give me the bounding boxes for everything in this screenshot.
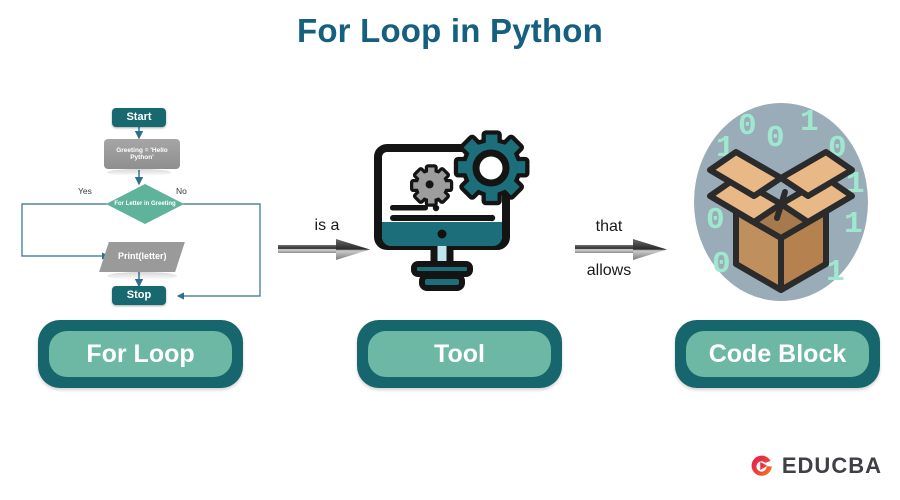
pill-code-block-label: Code Block (709, 340, 847, 369)
flow-node-stop-label: Stop (127, 289, 151, 301)
connector-that-allows (575, 238, 670, 264)
pill-for-loop-inner: For Loop (49, 331, 232, 377)
flow-node-print-shadow (107, 272, 177, 280)
monitor-gears-illustration (368, 118, 548, 308)
pill-tool-label: Tool (434, 340, 485, 369)
monitor-gears-icon (368, 118, 548, 308)
connector-allows-label: allows (574, 262, 644, 280)
connector-that-allows-arrow (575, 238, 670, 264)
open-box-code-icon: 1 0 0 1 0 1 1 0 0 1 (678, 100, 883, 308)
flow-node-stop[interactable]: Stop (112, 286, 166, 305)
svg-text:1: 1 (800, 105, 819, 140)
screen-dot-2 (489, 215, 495, 221)
pill-for-loop[interactable]: For Loop (38, 320, 243, 388)
monitor-power-dot (438, 230, 447, 239)
flow-node-start-label: Start (126, 111, 151, 123)
connector-is-a-arrow (278, 238, 373, 264)
educba-logo-text: EDUCBA (782, 453, 882, 479)
pill-code-block[interactable]: Code Block (675, 320, 880, 388)
pill-tool-inner: Tool (368, 331, 551, 377)
open-box-code-illustration: 1 0 0 1 0 1 1 0 0 1 (678, 100, 883, 308)
connector-that-label: that (574, 218, 644, 236)
flow-branch-label-no: No (176, 186, 187, 196)
svg-text:0: 0 (738, 109, 757, 144)
svg-text:0: 0 (766, 121, 785, 156)
monitor-stand-upper (414, 264, 470, 274)
connector-is-a (278, 238, 373, 264)
educba-mark-icon (750, 450, 775, 482)
flow-node-assign-shadow (107, 169, 171, 176)
pill-tool[interactable]: Tool (357, 320, 562, 388)
slide-canvas: For Loop in Python Start (0, 0, 900, 500)
pill-code-block-inner: Code Block (686, 331, 869, 377)
pill-for-loop-label: For Loop (86, 340, 194, 369)
screen-line-2 (390, 215, 494, 221)
monitor-stand-base (422, 276, 462, 288)
svg-text:0: 0 (712, 247, 731, 282)
large-gear-icon (458, 135, 525, 201)
svg-text:0: 0 (706, 203, 725, 238)
flow-node-print-label: Print(letter) (118, 252, 167, 262)
screen-line-1 (390, 205, 428, 211)
page-title: For Loop in Python (0, 12, 900, 50)
connector-is-a-label: is a (292, 217, 362, 235)
flow-branch-label-yes: Yes (78, 186, 92, 196)
flow-node-decision-label: For Letter in Greeting (114, 201, 175, 208)
small-gear-icon (413, 168, 450, 204)
flow-node-assign-label: Greeting = 'Hello Python' (107, 147, 177, 161)
flow-node-print[interactable]: Print(letter) (99, 242, 185, 272)
svg-text:1: 1 (844, 207, 863, 242)
educba-logo[interactable]: EDUCBA (750, 446, 882, 486)
flow-node-start[interactable]: Start (112, 108, 166, 127)
flow-node-assign[interactable]: Greeting = 'Hello Python' (104, 139, 180, 169)
for-loop-flowchart: Start Greeting = 'Hello Python' For Lett… (8, 100, 283, 310)
